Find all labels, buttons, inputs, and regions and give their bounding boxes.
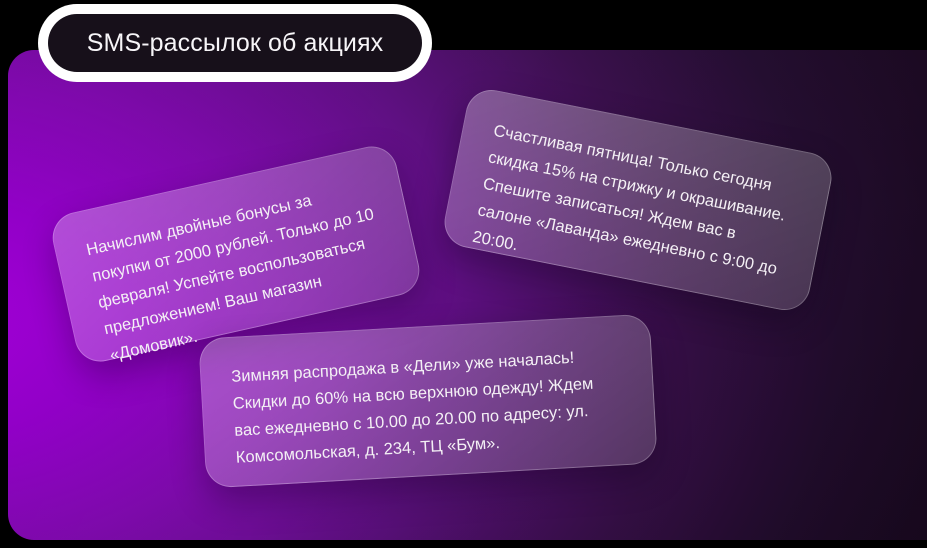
slide-canvas: SMS-рассылок об акциях Начислим двойные … <box>0 0 927 548</box>
sms-message-text: Зимняя распродажа в «Дели» уже началась!… <box>231 342 626 472</box>
page-title: SMS-рассылок об акциях <box>87 29 383 58</box>
title-pill: SMS-рассылок об акциях <box>38 4 432 82</box>
title-pill-inner: SMS-рассылок об акциях <box>48 14 422 72</box>
sms-message-card: Зимняя распродажа в «Дели» уже началась!… <box>198 314 658 489</box>
